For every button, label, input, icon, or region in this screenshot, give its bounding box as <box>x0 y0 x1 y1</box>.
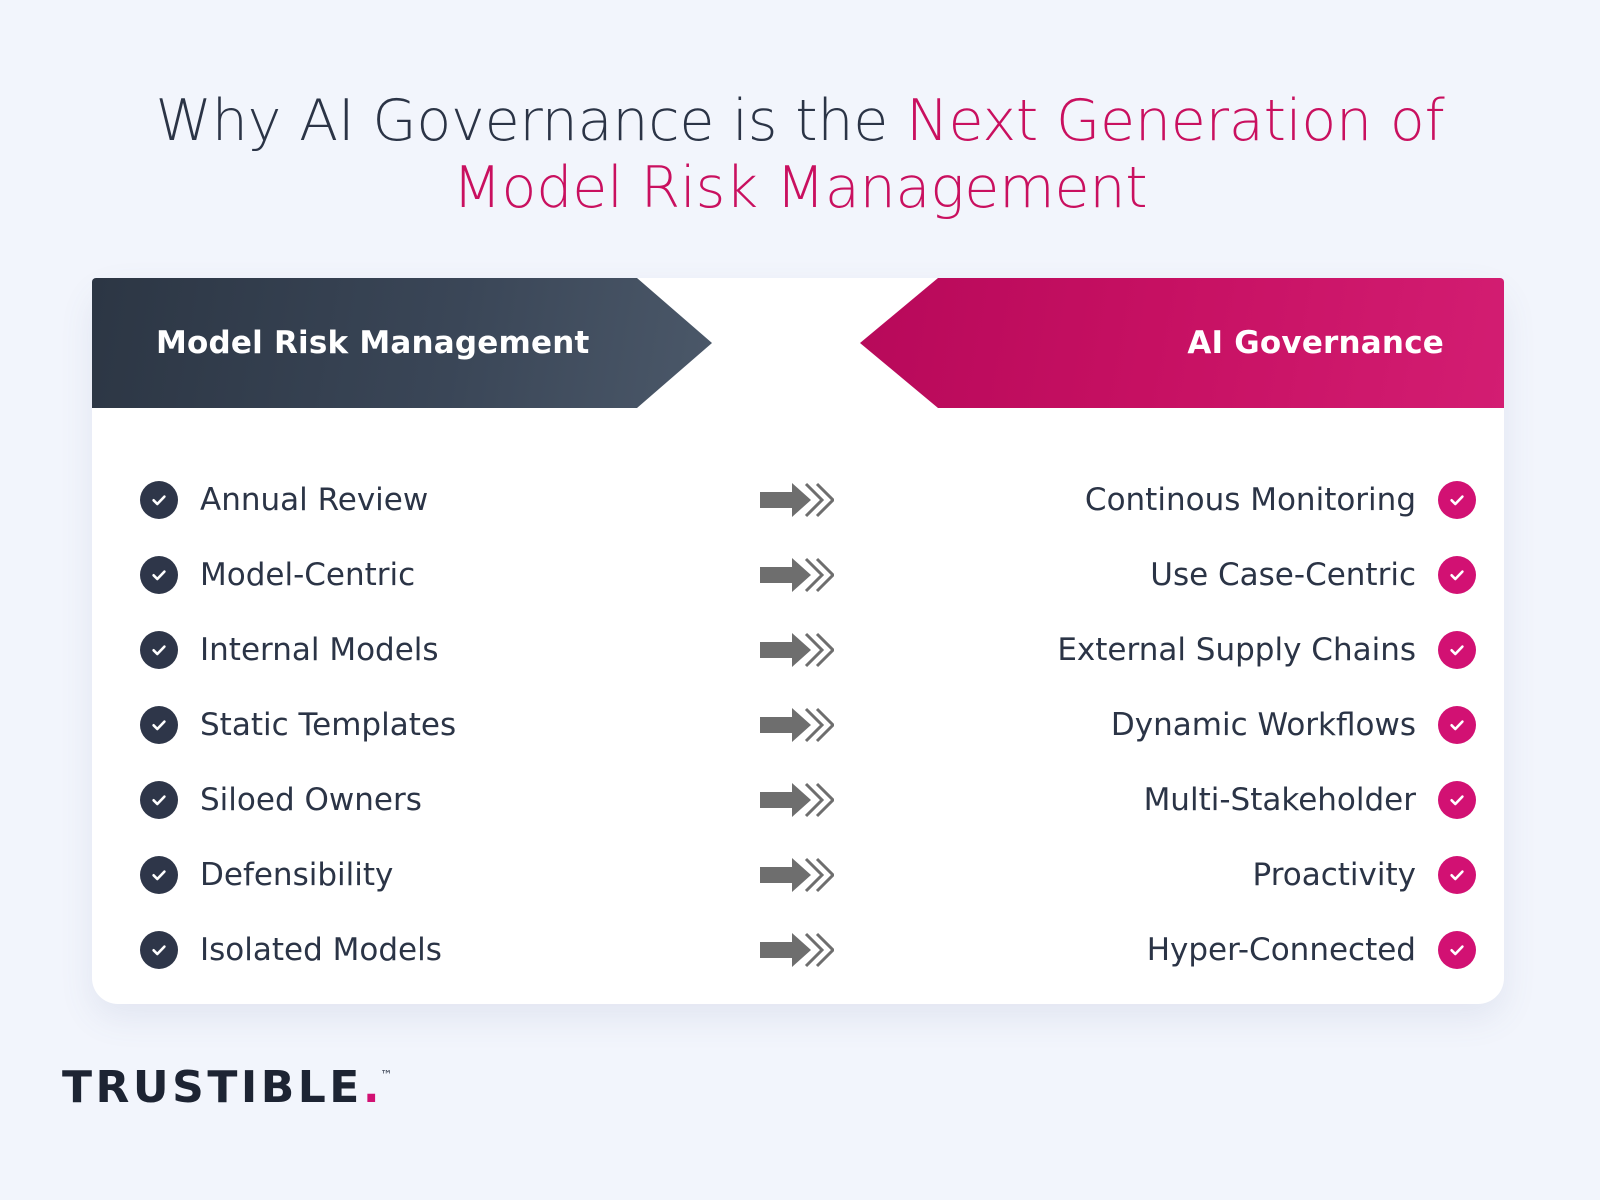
check-circle-icon <box>140 481 178 519</box>
logo-dot: . <box>363 1066 380 1110</box>
mrm-item-label: Internal Models <box>200 632 439 668</box>
check-circle-icon <box>1438 556 1476 594</box>
row-arrow-cell <box>664 629 928 671</box>
title-line-1: Why AI Governance is the Next Generation… <box>0 88 1600 155</box>
row-right-cell: Hyper-Connected <box>928 931 1504 969</box>
comparison-row: Annual ReviewContinous Monitoring <box>92 472 1504 528</box>
check-circle-icon <box>140 856 178 894</box>
comparison-row: Siloed OwnersMulti-Stakeholder <box>92 772 1504 828</box>
row-left-cell: Isolated Models <box>92 931 664 969</box>
row-right-cell: Dynamic Workflows <box>928 706 1504 744</box>
page-title: Why AI Governance is the Next Generation… <box>0 88 1600 223</box>
title-line-2: Model Risk Management <box>0 155 1600 222</box>
aig-item-label: External Supply Chains <box>1057 632 1416 668</box>
check-circle-icon <box>140 556 178 594</box>
comparison-row: DefensibilityProactivity <box>92 847 1504 903</box>
trustible-logo: TRUSTIBLE . ™ <box>62 1066 393 1110</box>
arrow-right-icon <box>758 929 834 971</box>
row-left-cell: Static Templates <box>92 706 664 744</box>
logo-wordmark: TRUSTIBLE <box>62 1066 363 1110</box>
check-circle-icon <box>1438 781 1476 819</box>
banner-model-risk-management: Model Risk Management <box>92 278 712 408</box>
row-arrow-cell <box>664 479 928 521</box>
check-circle-icon <box>140 631 178 669</box>
arrow-right-icon <box>758 854 834 896</box>
arrow-right-icon <box>758 629 834 671</box>
title-text-dark: Why AI Governance is the <box>156 88 907 154</box>
row-arrow-cell <box>664 929 928 971</box>
row-arrow-cell <box>664 554 928 596</box>
row-right-cell: External Supply Chains <box>928 631 1504 669</box>
row-left-cell: Annual Review <box>92 481 664 519</box>
check-circle-icon <box>1438 631 1476 669</box>
banner-right-label: AI Governance <box>1187 325 1444 361</box>
aig-item-label: Use Case-Centric <box>1150 557 1416 593</box>
banner-ai-governance: AI Governance <box>860 278 1504 408</box>
banner-left-label: Model Risk Management <box>156 325 590 361</box>
comparison-rows: Annual ReviewContinous MonitoringModel-C… <box>92 408 1504 1004</box>
aig-item-label: Proactivity <box>1253 857 1416 893</box>
mrm-item-label: Defensibility <box>200 857 393 893</box>
row-right-cell: Continous Monitoring <box>928 481 1504 519</box>
mrm-item-label: Model-Centric <box>200 557 415 593</box>
title-text-accent-1: Next Generation of <box>906 88 1444 154</box>
banner-row: Model Risk Management AI Governance <box>92 278 1504 408</box>
arrow-right-icon <box>758 479 834 521</box>
row-left-cell: Defensibility <box>92 856 664 894</box>
mrm-item-label: Isolated Models <box>200 932 442 968</box>
arrow-right-icon <box>758 554 834 596</box>
mrm-item-label: Static Templates <box>200 707 456 743</box>
aig-item-label: Multi-Stakeholder <box>1144 782 1416 818</box>
comparison-row: Static TemplatesDynamic Workflows <box>92 697 1504 753</box>
arrow-right-icon <box>758 779 834 821</box>
check-circle-icon <box>1438 481 1476 519</box>
arrow-right-icon <box>758 704 834 746</box>
logo-trademark-icon: ™ <box>381 1068 393 1082</box>
mrm-item-label: Annual Review <box>200 482 428 518</box>
row-left-cell: Model-Centric <box>92 556 664 594</box>
check-circle-icon <box>1438 931 1476 969</box>
row-right-cell: Multi-Stakeholder <box>928 781 1504 819</box>
row-left-cell: Internal Models <box>92 631 664 669</box>
check-circle-icon <box>140 931 178 969</box>
check-circle-icon <box>140 781 178 819</box>
row-right-cell: Use Case-Centric <box>928 556 1504 594</box>
row-right-cell: Proactivity <box>928 856 1504 894</box>
mrm-item-label: Siloed Owners <box>200 782 422 818</box>
row-arrow-cell <box>664 779 928 821</box>
check-circle-icon <box>140 706 178 744</box>
aig-item-label: Hyper-Connected <box>1147 932 1416 968</box>
check-circle-icon <box>1438 706 1476 744</box>
check-circle-icon <box>1438 856 1476 894</box>
row-left-cell: Siloed Owners <box>92 781 664 819</box>
row-arrow-cell <box>664 704 928 746</box>
comparison-row: Internal ModelsExternal Supply Chains <box>92 622 1504 678</box>
comparison-row: Model-CentricUse Case-Centric <box>92 547 1504 603</box>
aig-item-label: Dynamic Workflows <box>1111 707 1416 743</box>
row-arrow-cell <box>664 854 928 896</box>
aig-item-label: Continous Monitoring <box>1085 482 1416 518</box>
comparison-row: Isolated ModelsHyper-Connected <box>92 922 1504 978</box>
